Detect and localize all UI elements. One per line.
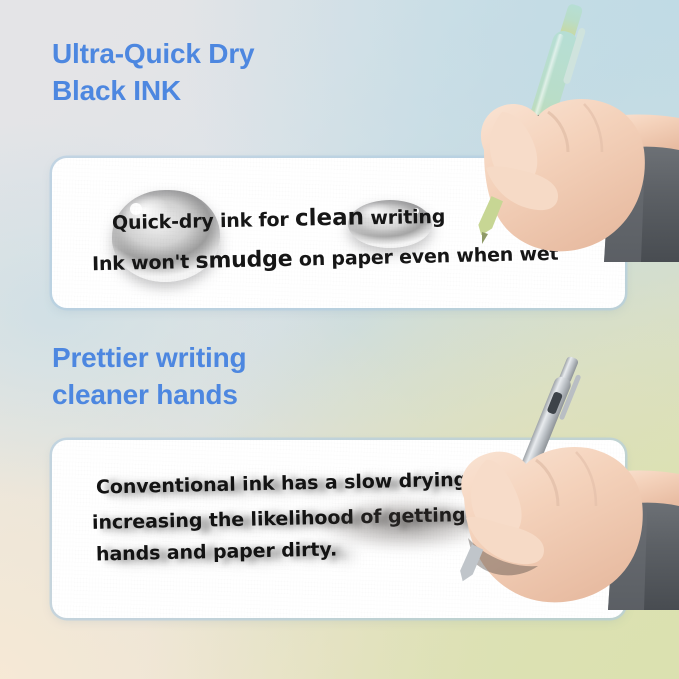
handwritten-line-2-after: on paper even when wet — [292, 243, 558, 271]
handwritten-line-2-accent: smudge — [195, 247, 292, 274]
handwritten-line-1-accent: clean — [295, 204, 365, 231]
handwritten-line-1-before: Quick-dry ink for — [112, 209, 295, 235]
section-heading-clean-hands: Prettier writing cleaner hands — [52, 340, 246, 414]
product-feature-image: Ultra-Quick Dry Black INK Quick-dry ink … — [0, 0, 679, 679]
section-heading-quick-dry: Ultra-Quick Dry Black INK — [52, 36, 254, 110]
handwritten-line-2-before: Ink won't — [92, 251, 196, 275]
handwritten-line-1-after: writing — [364, 206, 446, 230]
